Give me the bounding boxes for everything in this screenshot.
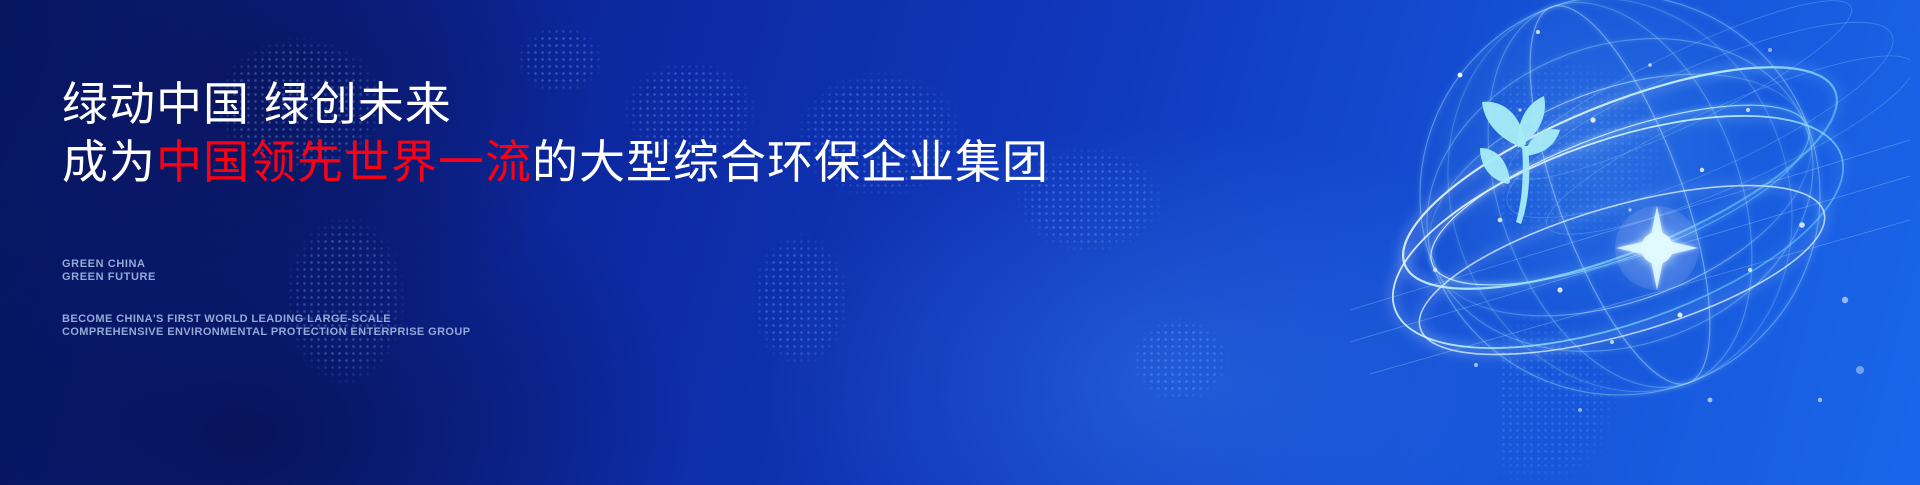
subtitle-en: GREEN CHINA GREEN FUTURE [62,258,156,284]
hero-banner: 绿动中国 绿创未来 成为中国领先世界一流的大型综合环保企业集团 GREEN CH… [0,0,1920,485]
copy-block: 绿动中国 绿创未来 成为中国领先世界一流的大型综合环保企业集团 GREEN CH… [62,0,1062,485]
headline-line-1: 绿动中国 绿创未来 [62,76,1022,132]
tagline-en-line-2: COMPREHENSIVE ENVIRONMENTAL PROTECTION E… [62,326,470,339]
headline-highlight: 中国领先世界一流 [156,136,532,188]
tagline-en: BECOME CHINA'S FIRST WORLD LEADING LARGE… [62,313,470,339]
wireframe-globe-graphic [1350,0,1910,485]
headline-line-2: 成为中国领先世界一流的大型综合环保企业集团 [62,134,1022,190]
headline: 绿动中国 绿创未来 成为中国领先世界一流的大型综合环保企业集团 [62,76,1022,190]
headline-prefix: 成为 [62,136,156,188]
subtitle-en-line-2: GREEN FUTURE [62,271,156,284]
tagline-en-line-1: BECOME CHINA'S FIRST WORLD LEADING LARGE… [62,313,470,326]
subtitle-en-line-1: GREEN CHINA [62,258,156,271]
headline-suffix: 的大型综合环保企业集团 [532,136,1049,188]
globe-svg [1350,0,1910,485]
